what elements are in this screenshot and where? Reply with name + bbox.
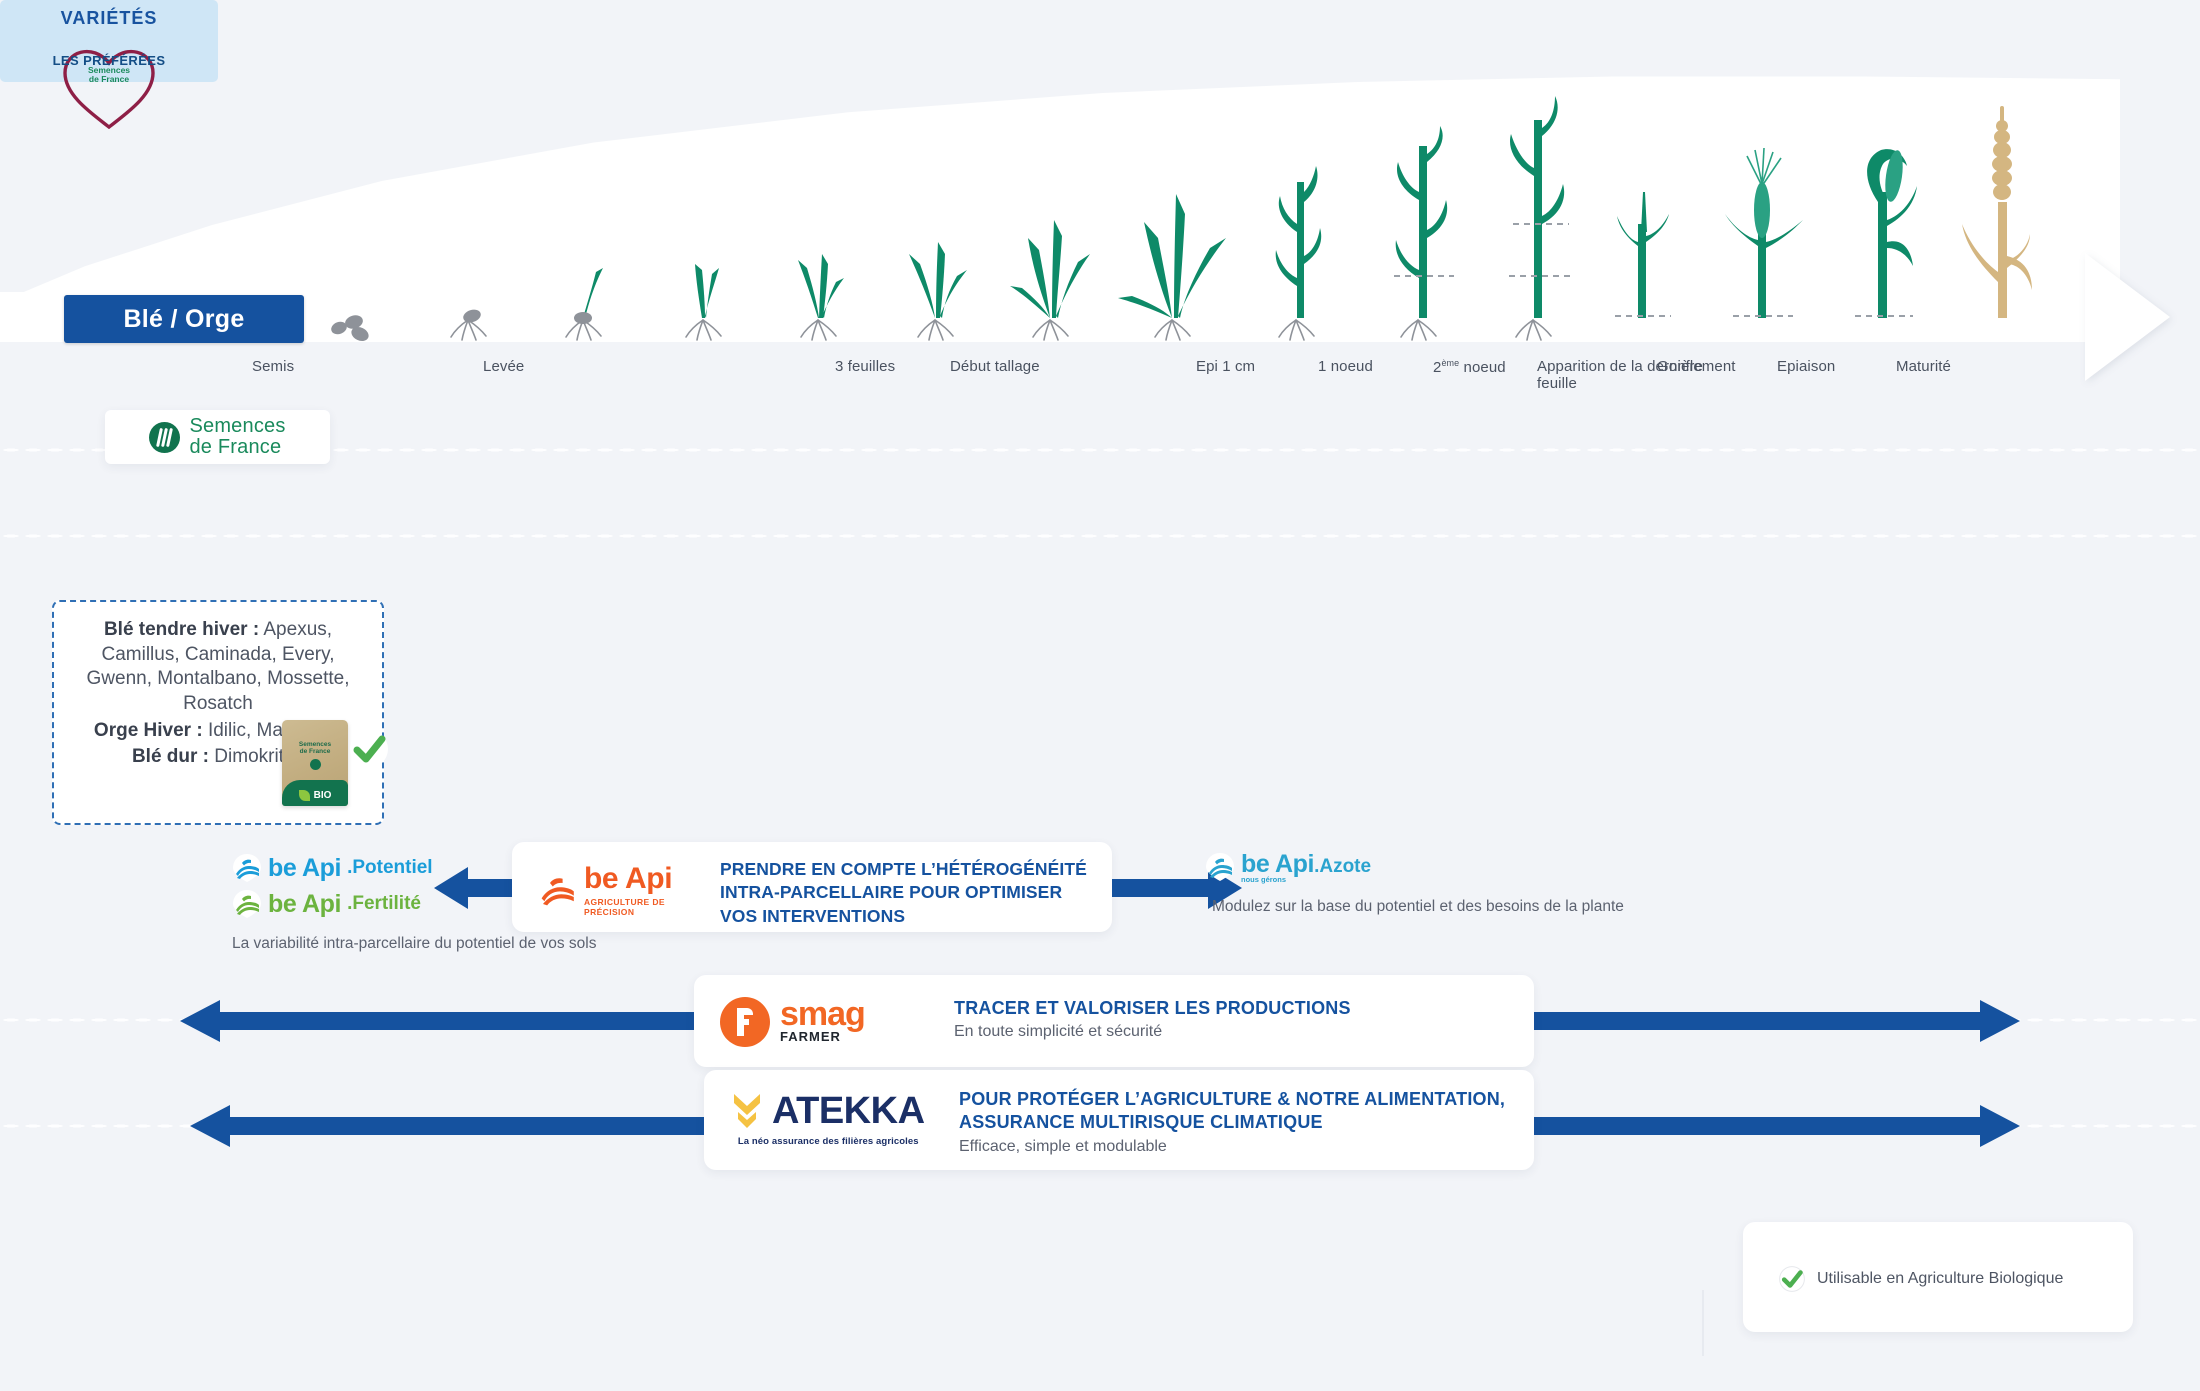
atekka-card: ATEKKA La néo assurance des filières agr… [704,1070,1534,1170]
legend-card: Utilisable en Agriculture Biologique [1743,1222,2133,1332]
beapi-main-tagline: AGRICULTURE DE PRÉCISION [584,897,701,917]
seed-bag-image: Semences de France BIO [282,720,348,806]
dotted-guide-row-1 [0,448,2200,452]
organic-check-icon [346,726,392,772]
semences-logo-line1: Semences [189,416,285,437]
seed-bag-brand-line2: de France [300,748,331,755]
preferees-line2b: de France [89,74,129,84]
atekka-chevron-icon [732,1090,762,1132]
atekka-logo-tagline: La néo assurance des filières agricoles [732,1136,925,1147]
beapi-fertilite-word: be Api [268,890,341,919]
varieties-list-box: Blé tendre hiver : Apexus, Camillus, Cam… [52,600,384,825]
smag-farmer-card: smag FARMER TRACER ET VALORISER LES PROD… [694,975,1534,1067]
variety-label-orge: Orge Hiver : [94,720,203,741]
dotted-guide-row-2 [0,534,2200,538]
beapi-azote-logo: be Api.Azote nous gérons [1205,850,1371,884]
legend-label: Utilisable en Agriculture Biologique [1817,1270,2063,1288]
atekka-title-line2: ASSURANCE MULTIRISQUE CLIMATIQUE [959,1111,1505,1134]
beapi-pin-icon [1205,852,1235,882]
semences-de-france-logo-card: Semences de France [105,410,330,464]
smag-text-block: TRACER ET VALORISER LES PRODUCTIONS En t… [954,997,1351,1041]
variety-label-ble-tendre: Blé tendre hiver : [104,619,259,640]
atekka-title-line1: POUR PROTÉGER L’AGRICULTURE & NOTRE ALIM… [959,1088,1505,1111]
beapi-azote-suffix: .Azote [1314,856,1371,877]
beapi-heterogeneite-text: PRENDRE EN COMPTE L’HÉTÉROGÉNÉITÉ INTRA-… [720,858,1100,928]
variety-label-ble-dur: Blé dur : [132,746,209,767]
stage-label: Levée [483,358,683,375]
variety-row: Blé tendre hiver : Apexus, Camillus, Cam… [70,618,366,717]
beapi-pin-icon [232,853,262,883]
smag-title: TRACER ET VALORISER LES PRODUCTIONS [954,997,1351,1020]
stage-label: Début tallage [950,358,1150,375]
growth-timeline: Blé / Orge Semis Levée [0,0,2200,390]
heterogeneite-line1: PRENDRE EN COMPTE L’HÉTÉROGÉNÉITÉ [720,858,1100,881]
seed-bag-mark-icon [310,759,321,770]
atekka-logo-word: ATEKKA [772,1092,925,1130]
smag-logo: smag FARMER [720,997,865,1047]
preferees-line2: Semences de France [88,66,130,84]
smag-f-icon [720,997,770,1047]
heterogeneite-line3: VOS INTERVENTIONS [720,905,1100,928]
legend-row: Utilisable en Agriculture Biologique [1777,1264,2063,1294]
seed-bag-bio-label: BIO [314,790,332,801]
beapi-main-logo: be Api AGRICULTURE DE PRÉCISION [536,862,701,917]
seed-bag-brand: Semences de France [282,742,348,756]
atekka-logo: ATEKKA La néo assurance des filières agr… [732,1090,925,1147]
atekka-subtitle: Efficace, simple et modulable [959,1138,1505,1156]
beapi-potentiel-word: be Api [268,854,341,883]
beapi-pin-icon [232,889,262,919]
beapi-left-caption: La variabilité intra-parcellaire du pote… [232,935,662,953]
stage-label: Maturité [1896,358,2096,375]
smag-subtitle: En toute simplicité et sécurité [954,1023,1351,1041]
smag-logo-word: smag [780,1000,865,1029]
semences-logo-text: Semences de France [189,416,285,458]
vertical-divider [1702,1290,1704,1356]
plant-illustration-maturite [1911,42,2081,342]
stage-label: Semis [252,358,452,375]
semences-mark-icon [149,422,180,453]
beapi-potentiel-suffix: .Potentiel [347,857,433,879]
beapi-azote-word: be Api [1241,850,1314,878]
atekka-text-block: POUR PROTÉGER L’AGRICULTURE & NOTRE ALIM… [959,1088,1505,1156]
organic-check-icon [1777,1264,1807,1294]
beapi-heterogeneite-card: be Api AGRICULTURE DE PRÉCISION PRENDRE … [512,842,1112,932]
timeline-arrow-head-icon [2085,253,2170,381]
beapi-fertilite-suffix: .Fertilité [347,893,421,915]
semences-logo-line2: de France [189,437,285,458]
beapi-main-word: be Api [584,862,701,896]
beapi-azote-caption: Modulez sur la base du potentiel et des … [1212,898,1624,916]
beapi-pin-icon [536,869,578,911]
heterogeneite-line2: INTRA-PARCELLAIRE POUR OPTIMISER [720,881,1100,904]
seed-bag-bio-strip: BIO [282,780,348,806]
leaf-icon [299,790,310,801]
les-preferees-badge: LES PRÉFÉRÉES Semences de France [49,31,169,82]
